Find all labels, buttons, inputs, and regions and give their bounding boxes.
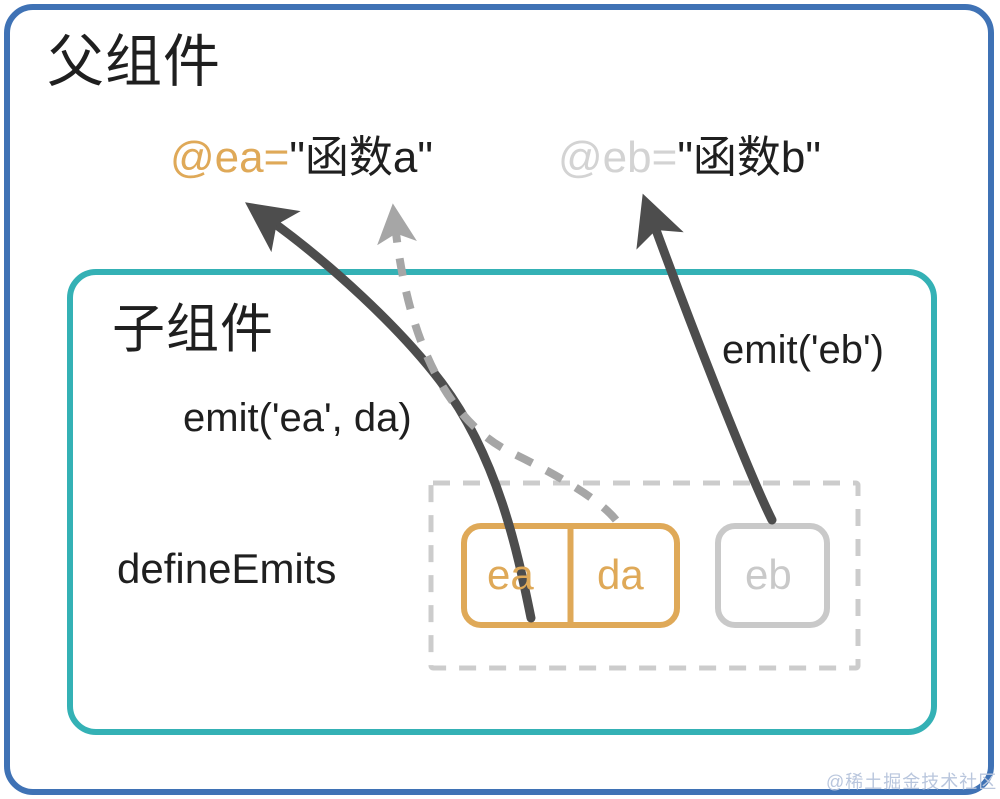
slot-eb-label[interactable]: eb [745,554,792,596]
diagram-canvas: 父组件 @ea="函数a" @eb="函数b" 子组件 emit('ea', d… [0,0,1000,799]
slot-ea-label[interactable]: ea [487,554,534,596]
define-emits-label: defineEmits [117,548,336,590]
binding-eb: @eb="函数b" [558,136,821,180]
binding-ea-key: @ea= [170,133,289,182]
child-component-title: 子组件 [112,303,274,356]
emit-ea-call-label: emit('ea', da) [183,398,412,438]
binding-ea-value: "函数a" [289,133,433,182]
binding-ea: @ea="函数a" [170,136,433,180]
diagram-vector-layer [0,0,1000,799]
emit-eb-call-label: emit('eb') [722,330,884,370]
parent-component-title: 父组件 [47,34,221,91]
binding-eb-value: "函数b" [677,133,821,182]
binding-eb-key: @eb= [558,133,677,182]
watermark: @稀土掘金技术社区 [826,768,997,794]
parent-component-box [7,7,991,792]
slot-da-label[interactable]: da [597,554,644,596]
